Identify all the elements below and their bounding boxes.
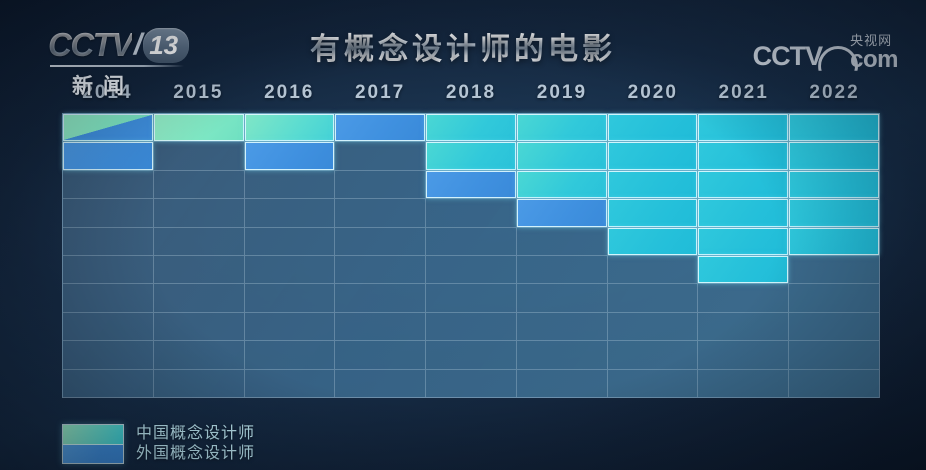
legend-label-group: 中国概念设计师 外国概念设计师 bbox=[136, 424, 255, 463]
grid-cell-2019-1 bbox=[517, 114, 607, 142]
cctv-com-watermark: CCTV 央视网 com bbox=[753, 34, 898, 72]
grid-cell-2021-9 bbox=[698, 341, 788, 369]
chart-column-2019 bbox=[517, 114, 608, 397]
bar-segment-2021-china-1 bbox=[698, 114, 788, 141]
watermark-arc-icon bbox=[818, 46, 852, 72]
grid-cell-2022-1 bbox=[789, 114, 879, 142]
grid-cell-2019-3 bbox=[517, 171, 607, 199]
x-axis-tick-2017: 2017 bbox=[335, 82, 426, 108]
grid-cell-2019-6 bbox=[517, 256, 607, 284]
grid-cell-2016-8 bbox=[245, 313, 335, 341]
grid-cell-2019-8 bbox=[517, 313, 607, 341]
grid-cell-2015-5 bbox=[154, 228, 244, 256]
grid-cell-2014-7 bbox=[63, 284, 153, 312]
bar-segment-2019-china-1 bbox=[517, 114, 607, 141]
grid-cell-2014-8 bbox=[63, 313, 153, 341]
bar-segment-2020-china-1 bbox=[608, 114, 698, 141]
grid-cell-2015-10 bbox=[154, 370, 244, 397]
x-axis-tick-2016: 2016 bbox=[244, 82, 335, 108]
grid-cell-2022-2 bbox=[789, 142, 879, 170]
bar-segment-2022-china-5 bbox=[789, 228, 879, 255]
grid-cell-2020-2 bbox=[608, 142, 698, 170]
grid-cell-2020-3 bbox=[608, 171, 698, 199]
legend-label-china: 中国概念设计师 bbox=[136, 424, 255, 444]
bar-segment-2016-china-1 bbox=[245, 114, 335, 141]
grid-cell-2015-9 bbox=[154, 341, 244, 369]
channel-name-cn: 新闻 bbox=[72, 70, 189, 100]
grid-cell-2015-6 bbox=[154, 256, 244, 284]
x-axis-tick-2020: 2020 bbox=[607, 82, 698, 108]
grid-cell-2019-9 bbox=[517, 341, 607, 369]
bar-segment-2020-china-5 bbox=[608, 228, 698, 255]
x-axis-tick-2019: 2019 bbox=[516, 82, 607, 108]
chart-column-2022 bbox=[789, 114, 879, 397]
bar-segment-2022-china-1 bbox=[789, 114, 879, 141]
grid-cell-2020-5 bbox=[608, 228, 698, 256]
grid-cell-2022-7 bbox=[789, 284, 879, 312]
x-axis-tick-2021: 2021 bbox=[698, 82, 789, 108]
bar-segment-2021-china-4 bbox=[698, 199, 788, 226]
chart-column-2015 bbox=[154, 114, 245, 397]
grid-cell-2022-4 bbox=[789, 199, 879, 227]
chart-legend: 中国概念设计师 外国概念设计师 bbox=[62, 424, 255, 464]
grid-cell-2017-8 bbox=[335, 313, 425, 341]
legend-swatch-china bbox=[63, 425, 123, 445]
grid-cell-2021-1 bbox=[698, 114, 788, 142]
grid-cell-2018-2 bbox=[426, 142, 516, 170]
grid-cell-2016-6 bbox=[245, 256, 335, 284]
grid-cell-2015-8 bbox=[154, 313, 244, 341]
bar-segment-2018-foreign-3 bbox=[426, 171, 516, 198]
grid-cell-2014-4 bbox=[63, 199, 153, 227]
grid-cell-2014-3 bbox=[63, 171, 153, 199]
grid-cell-2021-7 bbox=[698, 284, 788, 312]
grid-cell-2022-10 bbox=[789, 370, 879, 397]
bar-segment-2021-china-6 bbox=[698, 256, 788, 283]
grid-cell-2016-10 bbox=[245, 370, 335, 397]
chart-column-2020 bbox=[608, 114, 699, 397]
grid-cell-2021-8 bbox=[698, 313, 788, 341]
grid-cell-2015-7 bbox=[154, 284, 244, 312]
bar-segment-2017-foreign-1 bbox=[335, 114, 425, 141]
grid-cell-2016-7 bbox=[245, 284, 335, 312]
grid-cell-2020-4 bbox=[608, 199, 698, 227]
grid-cell-2014-2 bbox=[63, 142, 153, 170]
bar-segment-2020-china-4 bbox=[608, 199, 698, 226]
grid-cell-2015-2 bbox=[154, 142, 244, 170]
grid-cell-2021-6 bbox=[698, 256, 788, 284]
grid-cell-2014-5 bbox=[63, 228, 153, 256]
bar-segment-2014-china-1 bbox=[63, 114, 153, 141]
grid-cell-2021-5 bbox=[698, 228, 788, 256]
grid-cell-2019-7 bbox=[517, 284, 607, 312]
grid-cell-2021-10 bbox=[698, 370, 788, 397]
grid-cell-2017-5 bbox=[335, 228, 425, 256]
grid-cell-2021-4 bbox=[698, 199, 788, 227]
bar-segment-2015-china-1 bbox=[154, 114, 244, 141]
chart-column-2021 bbox=[698, 114, 789, 397]
grid-cell-2016-4 bbox=[245, 199, 335, 227]
grid-cell-2016-2 bbox=[245, 142, 335, 170]
stacked-bar-chart bbox=[62, 113, 880, 398]
grid-cell-2016-1 bbox=[245, 114, 335, 142]
grid-cell-2021-2 bbox=[698, 142, 788, 170]
grid-cell-2014-1 bbox=[63, 114, 153, 142]
grid-cell-2015-3 bbox=[154, 171, 244, 199]
bar-segment-2014-foreign-2 bbox=[63, 142, 153, 169]
grid-cell-2020-7 bbox=[608, 284, 698, 312]
grid-cell-2022-6 bbox=[789, 256, 879, 284]
grid-cell-2020-10 bbox=[608, 370, 698, 397]
grid-cell-2016-5 bbox=[245, 228, 335, 256]
grid-cell-2015-1 bbox=[154, 114, 244, 142]
grid-cell-2019-2 bbox=[517, 142, 607, 170]
bar-segment-2021-china-5 bbox=[698, 228, 788, 255]
grid-cell-2017-10 bbox=[335, 370, 425, 397]
bar-segment-2022-china-3 bbox=[789, 171, 879, 198]
grid-cell-2016-3 bbox=[245, 171, 335, 199]
x-axis-tick-2018: 2018 bbox=[426, 82, 517, 108]
bar-segment-2019-china-3 bbox=[517, 171, 607, 198]
bar-segment-2016-foreign-2 bbox=[245, 142, 335, 169]
chart-column-2016 bbox=[245, 114, 336, 397]
grid-cell-2015-4 bbox=[154, 199, 244, 227]
chart-column-2017 bbox=[335, 114, 426, 397]
bar-segment-2018-china-2 bbox=[426, 142, 516, 169]
bar-segment-2021-china-3 bbox=[698, 171, 788, 198]
grid-cell-2018-7 bbox=[426, 284, 516, 312]
bar-segment-2020-china-2 bbox=[608, 142, 698, 169]
grid-cell-2014-6 bbox=[63, 256, 153, 284]
grid-cell-2017-6 bbox=[335, 256, 425, 284]
grid-cell-2017-9 bbox=[335, 341, 425, 369]
grid-cell-2017-7 bbox=[335, 284, 425, 312]
bar-segment-2022-china-2 bbox=[789, 142, 879, 169]
grid-cell-2022-9 bbox=[789, 341, 879, 369]
grid-cell-2018-8 bbox=[426, 313, 516, 341]
grid-cell-2018-3 bbox=[426, 171, 516, 199]
grid-cell-2020-1 bbox=[608, 114, 698, 142]
grid-cell-2021-3 bbox=[698, 171, 788, 199]
grid-cell-2018-10 bbox=[426, 370, 516, 397]
grid-cell-2018-6 bbox=[426, 256, 516, 284]
grid-cell-2022-3 bbox=[789, 171, 879, 199]
legend-label-foreign: 外国概念设计师 bbox=[136, 444, 255, 464]
grid-cell-2019-4 bbox=[517, 199, 607, 227]
grid-cell-2014-9 bbox=[63, 341, 153, 369]
chart-column-2018 bbox=[426, 114, 517, 397]
grid-cell-2014-10 bbox=[63, 370, 153, 397]
grid-cell-2020-6 bbox=[608, 256, 698, 284]
legend-swatch-foreign bbox=[63, 445, 123, 464]
bar-segment-2018-china-1 bbox=[426, 114, 516, 141]
grid-cell-2017-3 bbox=[335, 171, 425, 199]
grid-cell-2019-10 bbox=[517, 370, 607, 397]
grid-cell-2018-9 bbox=[426, 341, 516, 369]
grid-cell-2017-1 bbox=[335, 114, 425, 142]
bar-segment-2019-foreign-4 bbox=[517, 199, 607, 226]
grid-cell-2020-8 bbox=[608, 313, 698, 341]
grid-cell-2017-2 bbox=[335, 142, 425, 170]
grid-cell-2022-5 bbox=[789, 228, 879, 256]
chart-column-2014 bbox=[63, 114, 154, 397]
legend-swatch-group bbox=[62, 424, 124, 464]
grid-cell-2018-1 bbox=[426, 114, 516, 142]
grid-cell-2022-8 bbox=[789, 313, 879, 341]
bar-segment-2020-china-3 bbox=[608, 171, 698, 198]
grid-cell-2018-5 bbox=[426, 228, 516, 256]
grid-cell-2018-4 bbox=[426, 199, 516, 227]
grid-cell-2019-5 bbox=[517, 228, 607, 256]
grid-cell-2016-9 bbox=[245, 341, 335, 369]
grid-cell-2020-9 bbox=[608, 341, 698, 369]
watermark-cctv-text: CCTV bbox=[753, 41, 823, 72]
bar-segment-2021-china-2 bbox=[698, 142, 788, 169]
grid-cell-2017-4 bbox=[335, 199, 425, 227]
bar-segment-2019-china-2 bbox=[517, 142, 607, 169]
x-axis-tick-2022: 2022 bbox=[789, 82, 880, 108]
bar-segment-2022-china-4 bbox=[789, 199, 879, 226]
